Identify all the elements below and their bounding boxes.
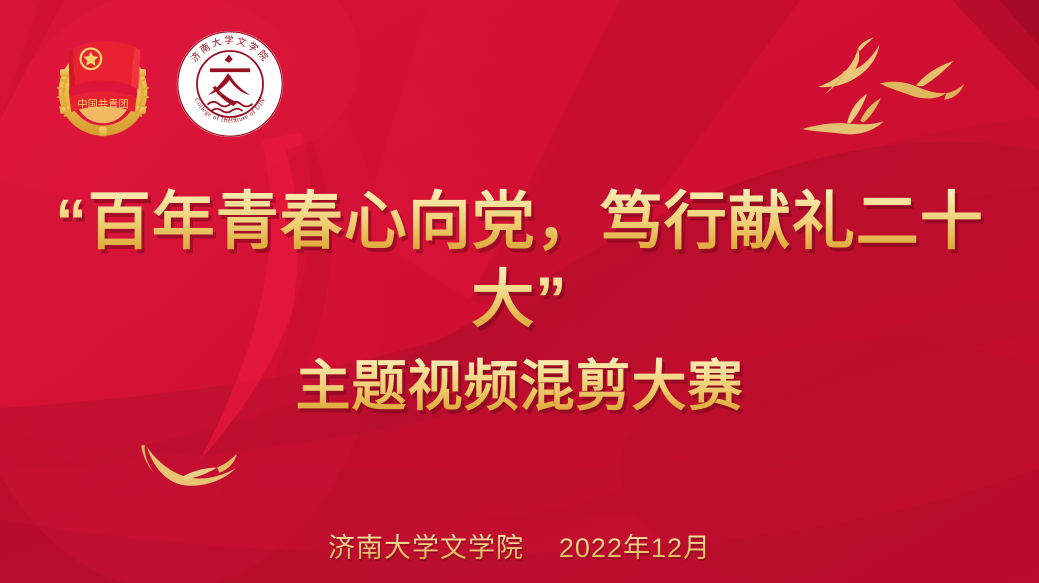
cyl-banner-text: 中国共青团 — [77, 97, 128, 110]
poster-title-block: “百年青春心向党，笃行献礼二十 大” 主题视频混剪大赛 — [0, 183, 1039, 421]
communist-youth-league-emblem-icon: 中国共青团 — [47, 28, 159, 140]
footer-date: 2022年12月 — [559, 526, 711, 565]
dove-top-right-lower-icon — [799, 90, 894, 151]
ujn-college-of-literature-seal-icon: 1978 济南大学文学院 College of literature of UJ… — [175, 29, 285, 139]
logo-row: 中国共青团 1978 — [47, 28, 285, 140]
poster-footer: 济南大学文学院 2022年12月 — [0, 526, 1039, 565]
title-line-2: 大” — [26, 261, 1013, 339]
poster-canvas: 中国共青团 1978 — [0, 0, 1039, 583]
title-line-3-event-name: 主题视频混剪大赛 — [26, 351, 1013, 421]
dove-bottom-left-icon — [132, 421, 251, 508]
title-line-1: “百年青春心向党，笃行献礼二十 — [26, 183, 1013, 261]
footer-organizer: 济南大学文学院 — [328, 526, 524, 565]
